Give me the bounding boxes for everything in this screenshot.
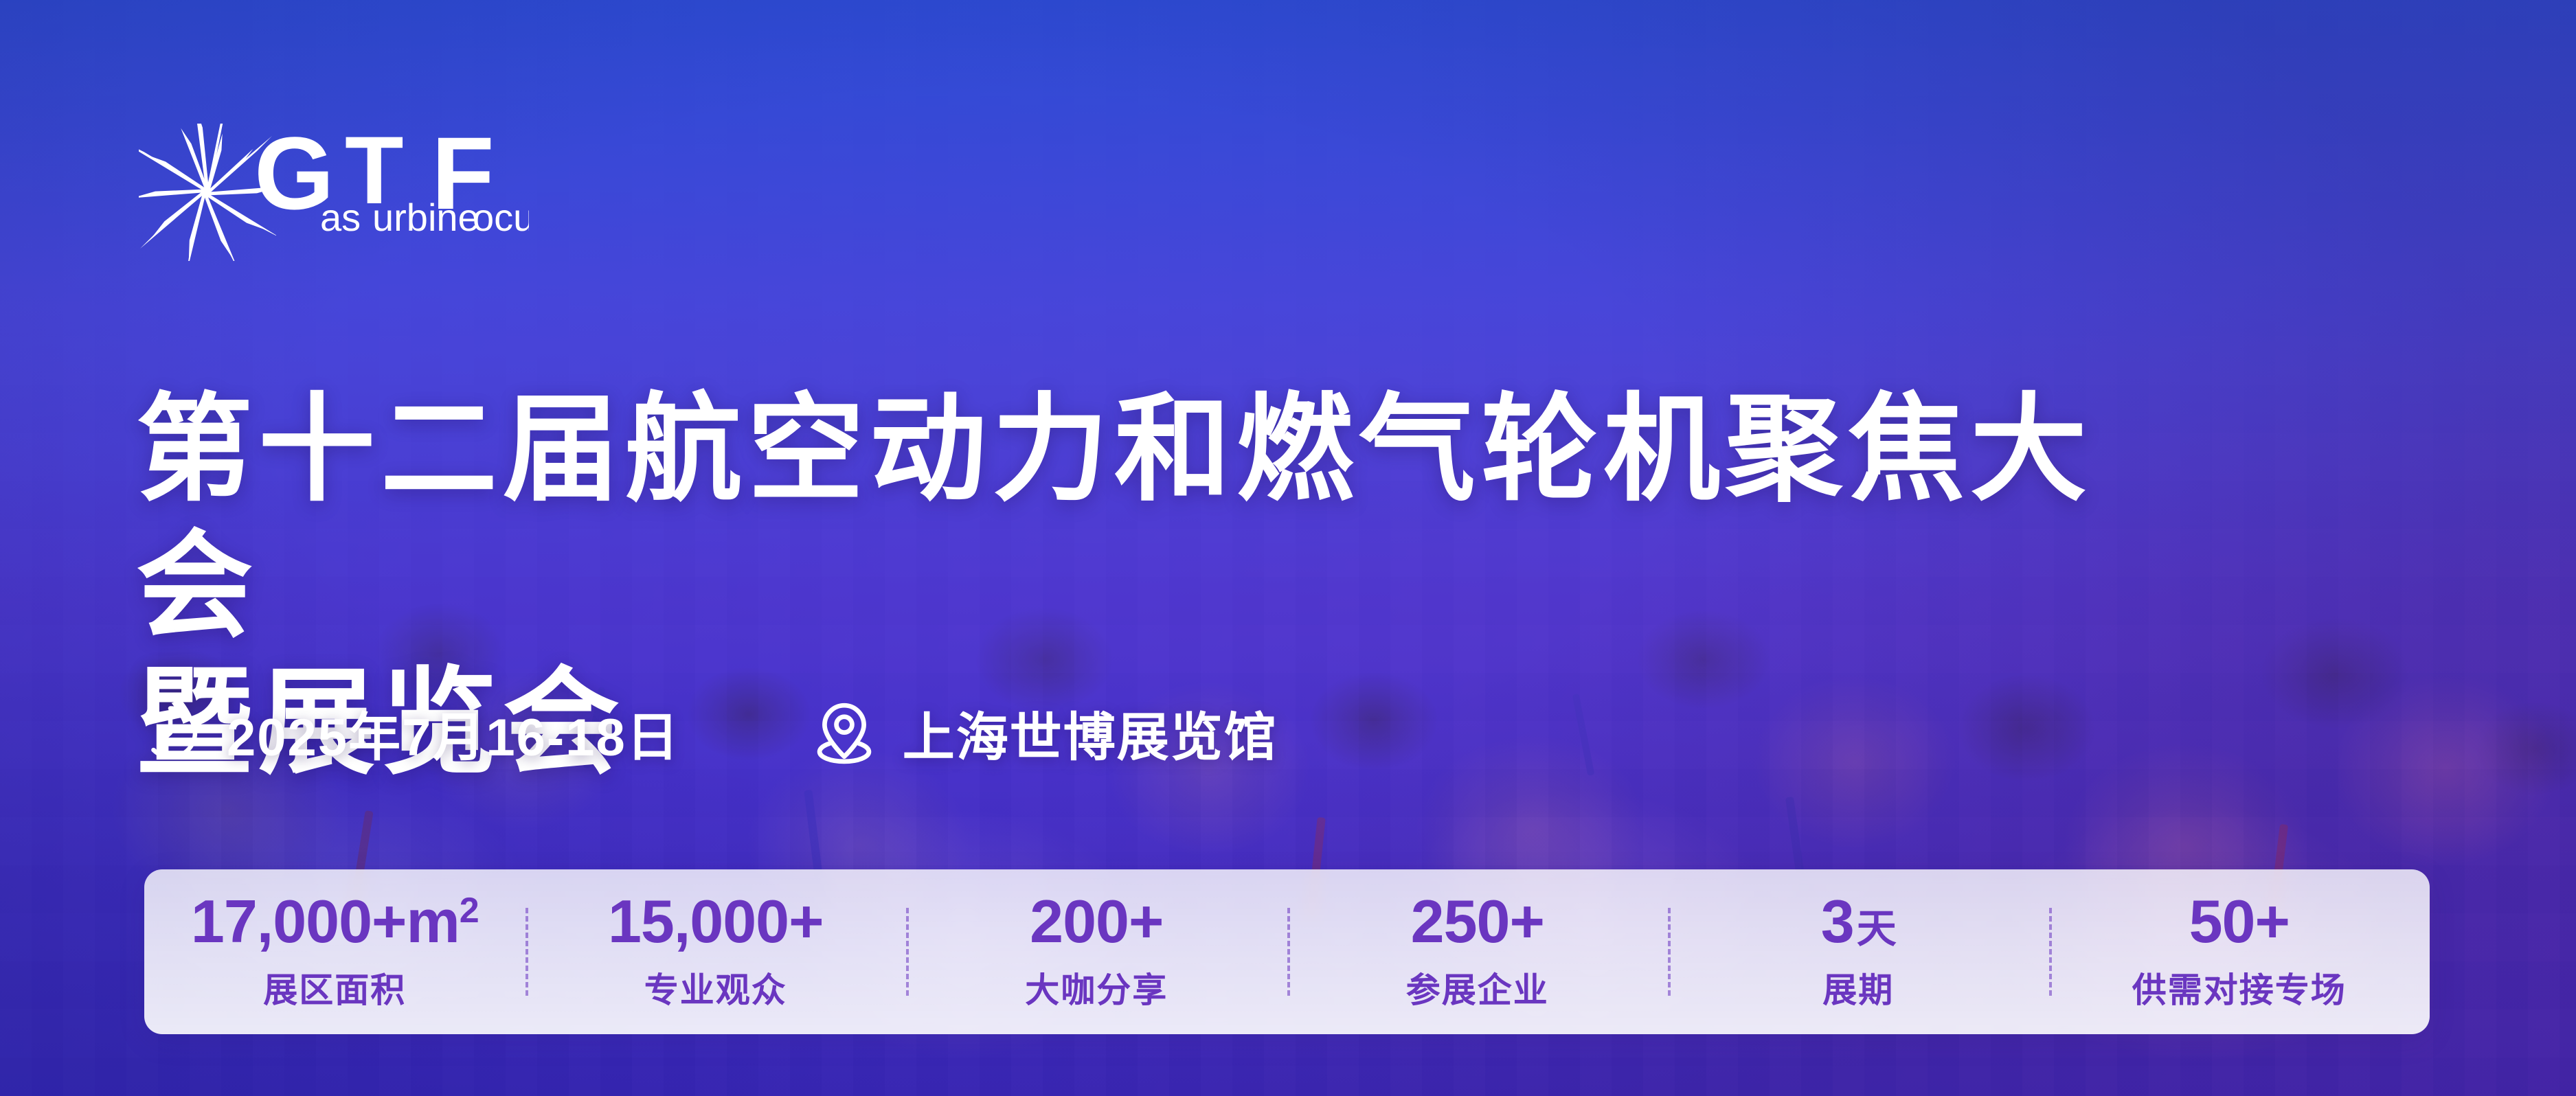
logo-sub-as: as [320,196,361,239]
stat-item-matchmaking: 50+ 供需对接专场 [2049,891,2430,1012]
stat-value: 50+ [2189,891,2290,952]
stat-label: 大咖分享 [1025,963,1168,1012]
stat-number: 17,000+m [191,891,460,952]
stat-value: 200+ [1030,891,1163,952]
stat-value: 17,000+m2 [191,891,479,952]
stat-number: 3 [1821,891,1854,952]
conference-hero-banner: G T F as urbine ocus 第十二届航空动力和燃气轮机聚焦大会 暨… [0,0,2576,1096]
map-pin-icon [811,699,878,766]
stat-label: 参展企业 [1406,963,1549,1012]
stat-item-speakers: 200+ 大咖分享 [906,891,1287,1012]
stat-item-exhibitors: 250+ 参展企业 [1287,891,1669,1012]
stat-number: 250+ [1411,891,1544,952]
stat-number: 200+ [1030,891,1163,952]
stat-value: 250+ [1411,891,1544,952]
gtf-wordmark: G T F as urbine ocus [254,119,529,257]
stats-bar: 17,000+m2 展区面积 15,000+ 专业观众 200+ 大咖分享 25… [144,869,2430,1034]
stat-label: 供需对接专场 [2132,963,2347,1012]
stat-unit: 天 [1857,909,1896,949]
stat-item-duration: 3天 展期 [1668,891,2049,1012]
title-line-1: 第十二届航空动力和燃气轮机聚焦大会 [136,385,2092,652]
event-venue-text: 上海世博展览馆 [903,695,1278,770]
stat-item-visitors: 15,000+ 专业观众 [526,891,907,1012]
event-venue-item: 上海世博展览馆 [811,695,1278,770]
stat-label: 展区面积 [263,963,406,1012]
logo-sub-urbine: urbine [372,196,479,239]
stat-number: 15,000+ [608,891,824,952]
event-date-text: 2025年7月16-18日 [227,695,680,770]
stat-label: 展期 [1822,963,1894,1012]
stat-label: 专业观众 [644,963,787,1012]
stat-value: 15,000+ [608,891,824,952]
event-date-item: 2025年7月16-18日 [139,695,680,770]
gtf-logo[interactable]: G T F as urbine ocus [139,124,523,261]
stat-number: 50+ [2189,891,2290,952]
stat-value: 3天 [1821,891,1896,952]
logo-sub-ocus: ocus [473,196,529,239]
stat-superscript: 2 [460,893,479,928]
event-meta-row: 2025年7月16-18日 上海世博展览馆 [139,695,1278,770]
stat-item-area: 17,000+m2 展区面积 [144,891,526,1012]
clock-icon [139,701,202,764]
